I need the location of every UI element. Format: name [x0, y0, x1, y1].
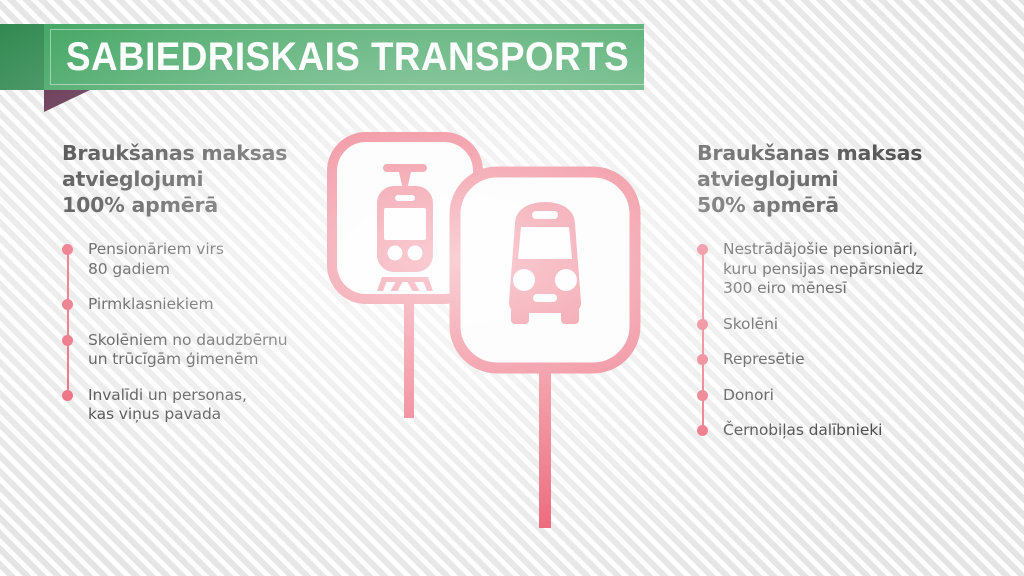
list-item-line: Skolēni: [723, 315, 778, 333]
left-benefit-list: Pensionāriem virs 80 gadiem Pirmklasniek…: [62, 240, 352, 425]
list-item: Pensionāriem virs 80 gadiem: [62, 240, 352, 279]
transport-signs-illustration: [325, 120, 685, 540]
bullet-dot-icon: [62, 244, 73, 255]
bullet-dot-icon: [697, 319, 708, 330]
bus-sign-pole: [539, 360, 551, 528]
list-item: Invalīdi un personas, kas viņus pavada: [62, 386, 352, 425]
infographic-canvas: SABIEDRISKAIS TRANSPORTS Braukšanas maks…: [0, 0, 1024, 576]
list-item: Skolēni: [697, 315, 997, 335]
list-item-line: Černobiļas dalībnieki: [723, 421, 882, 439]
heading-line: 100% apmērā: [62, 193, 218, 217]
tram-sign-pole: [404, 290, 414, 418]
list-item-line: Pensionāriem virs: [88, 240, 224, 258]
bullet-dot-icon: [62, 390, 73, 401]
list-item-line: 80 gadiem: [88, 260, 170, 278]
list-item-line: kas viņus pavada: [88, 405, 221, 423]
banner: SABIEDRISKAIS TRANSPORTS: [0, 24, 660, 90]
left-column: Braukšanas maksas atvieglojumi 100% apmē…: [62, 140, 352, 425]
banner-drop-shadow: [44, 90, 90, 112]
page-title: SABIEDRISKAIS TRANSPORTS: [66, 24, 629, 90]
list-item: Nestrādājošie pensionāri, kuru pensijas …: [697, 240, 997, 299]
bullet-dot-icon: [697, 244, 708, 255]
list-item: Donori: [697, 386, 997, 406]
bus-icon: [509, 202, 581, 324]
list-item-line: Pirmklasniekiem: [88, 295, 213, 313]
list-item-line: kuru pensijas nepārsniedz: [723, 260, 923, 278]
heading-line: 50% apmērā: [697, 193, 839, 217]
heading-line: Braukšanas maksas: [62, 141, 287, 165]
list-item-line: Skolēniem no daudzbērnu: [88, 331, 287, 349]
list-item-line: Represētie: [723, 350, 805, 368]
list-item: Pirmklasniekiem: [62, 295, 352, 315]
heading-line: Braukšanas maksas: [697, 141, 922, 165]
heading-line: atvieglojumi: [62, 167, 203, 191]
list-item-line: un trūcīgām ģimenēm: [88, 350, 258, 368]
list-item-line: Donori: [723, 386, 774, 404]
right-column: Braukšanas maksas atvieglojumi 50% apmēr…: [697, 140, 997, 441]
bullet-dot-icon: [697, 390, 708, 401]
list-item-line: Nestrādājošie pensionāri,: [723, 240, 918, 258]
list-item: Černobiļas dalībnieki: [697, 421, 997, 441]
bullet-dot-icon: [62, 335, 73, 346]
list-item-line: Invalīdi un personas,: [88, 386, 247, 404]
bullet-dot-icon: [697, 354, 708, 365]
list-item: Represētie: [697, 350, 997, 370]
list-item-line: 300 eiro mēnesī: [723, 279, 847, 297]
banner-fold: [0, 24, 44, 90]
list-item: Skolēniem no daudzbērnu un trūcīgām ģime…: [62, 331, 352, 370]
right-benefit-list: Nestrādājošie pensionāri, kuru pensijas …: [697, 240, 997, 441]
right-column-heading: Braukšanas maksas atvieglojumi 50% apmēr…: [697, 140, 997, 218]
bullet-dot-icon: [62, 299, 73, 310]
left-column-heading: Braukšanas maksas atvieglojumi 100% apmē…: [62, 140, 352, 218]
heading-line: atvieglojumi: [697, 167, 838, 191]
bus-sign: [455, 172, 635, 528]
bullet-dot-icon: [697, 425, 708, 436]
